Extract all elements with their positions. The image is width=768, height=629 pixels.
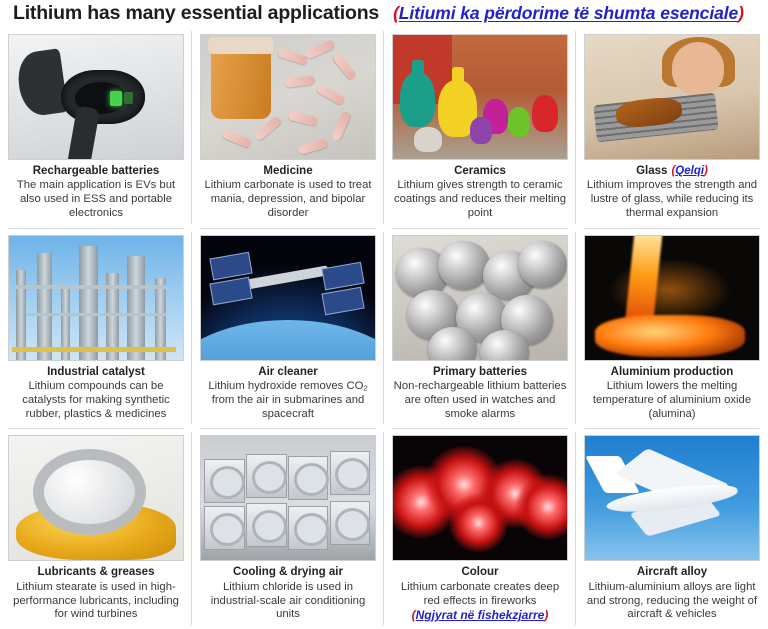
red-fireworks-photo [392,435,568,561]
page-title-translation: (Litiumi ka përdorime të shumta esencial… [393,3,744,24]
colourful-ceramic-jugs-photo [392,34,568,160]
cell-title: Lubricants & greases [8,566,184,579]
ball-bearing-with-grease-photo [8,435,184,561]
paren-close: ) [738,3,744,23]
cell-title: Colour [392,566,568,579]
cell-title-translation: (Qelqi) [671,165,707,177]
cell-medicine[interactable]: Medicine Lithium carbonate is used to tr… [192,27,384,228]
ev-charging-port-photo [8,34,184,160]
cell-rechargeable-batteries[interactable]: Rechargeable batteries The main applicat… [0,27,192,228]
coin-cell-batteries-photo [392,235,568,361]
cell-title: Cooling & drying air [200,566,376,579]
refinery-plant-photo [8,235,184,361]
molten-metal-pour-photo [584,235,760,361]
space-station-photo [200,235,376,361]
cell-title: Primary batteries [392,366,568,379]
applications-grid: Rechargeable batteries The main applicat… [0,27,768,629]
cell-body-translation: (Ngjyrat në fishekzjarre) [392,608,568,622]
caption: Glass(Qelqi) Lithium improves the streng… [584,165,760,221]
caption: Lubricants & greases Lithium stearate is… [8,566,184,622]
cell-body: Lithium carbonate creates deep red effec… [392,581,568,609]
subscript-2: 2 [363,384,367,393]
caption: Colour Lithium carbonate creates deep re… [392,566,568,622]
paren-close: ) [704,165,708,177]
translation-text: Ngjyrat në fishekzjarre [416,608,545,622]
cell-body: Lithium-aluminium alloys are light and s… [584,581,760,622]
cell-air-cleaner[interactable]: Air cleaner Lithium hydroxide removes CO… [192,228,384,429]
paren-close: ) [544,608,548,622]
cell-body: Lithium stearate is used in high-perform… [8,581,184,622]
cell-title: Medicine [200,165,376,178]
translation-text: Litiumi ka përdorime të shumta esenciale [399,3,738,23]
translation-text: Qelqi [675,165,704,177]
cell-body: Lithium carbonate is used to treat mania… [200,179,376,220]
cell-title-text: Glass [636,165,667,177]
cell-glass[interactable]: Glass(Qelqi) Lithium improves the streng… [576,27,768,228]
cell-ceramics[interactable]: Ceramics Lithium gives strength to ceram… [384,27,576,228]
cell-title: Industrial catalyst [8,366,184,379]
caption: Industrial catalyst Lithium compounds ca… [8,366,184,422]
caption: Primary batteries Non-rechargeable lithi… [392,366,568,422]
cell-body: Lithium chloride is used in industrial-s… [200,581,376,622]
cell-lubricants-greases[interactable]: Lubricants & greases Lithium stearate is… [0,428,192,629]
airbus-a380-photo [584,435,760,561]
cell-body: Lithium gives strength to ceramic coatin… [392,179,568,220]
cell-title: Aircraft alloy [584,566,760,579]
caption: Cooling & drying air Lithium chloride is… [200,566,376,622]
cell-body: Lithium hydroxide removes CO2 from the a… [200,380,376,421]
cell-body: Lithium compounds can be catalysts for m… [8,380,184,421]
cell-body: Lithium lowers the melting temperature o… [584,380,760,421]
cell-body-pre: Lithium hydroxide removes CO [208,380,363,392]
page-title: Lithium has many essential applications [13,2,379,25]
caption: Medicine Lithium carbonate is used to tr… [200,165,376,221]
cell-aluminium-production[interactable]: Aluminium production Lithium lowers the … [576,228,768,429]
cell-colour[interactable]: Colour Lithium carbonate creates deep re… [384,428,576,629]
cell-title: Aluminium production [584,366,760,379]
caption: Air cleaner Lithium hydroxide removes CO… [200,366,376,422]
caption: Aircraft alloy Lithium-aluminium alloys … [584,566,760,622]
cell-cooling-drying-air[interactable]: Cooling & drying air Lithium chloride is… [192,428,384,629]
air-conditioning-units-photo [200,435,376,561]
pill-bottle-and-pills-photo [200,34,376,160]
cell-aircraft-alloy[interactable]: Aircraft alloy Lithium-aluminium alloys … [576,428,768,629]
woman-with-oven-tray-photo [584,34,760,160]
cell-body: Non-rechargeable lithium batteries are o… [392,380,568,421]
caption: Rechargeable batteries The main applicat… [8,165,184,221]
cell-title: Glass(Qelqi) [584,165,760,178]
cell-title: Rechargeable batteries [8,165,184,178]
cell-body: Lithium improves the strength and lustre… [584,179,760,220]
cell-primary-batteries[interactable]: Primary batteries Non-rechargeable lithi… [384,228,576,429]
cell-body-post: from the air in submarines and spacecraf… [212,394,365,420]
caption: Aluminium production Lithium lowers the … [584,366,760,422]
cell-body: The main application is EVs but also use… [8,179,184,220]
caption: Ceramics Lithium gives strength to ceram… [392,165,568,221]
cell-title: Ceramics [392,165,568,178]
cell-industrial-catalyst[interactable]: Industrial catalyst Lithium compounds ca… [0,228,192,429]
cell-title: Air cleaner [200,366,376,379]
page-header: Lithium has many essential applications … [0,0,768,27]
